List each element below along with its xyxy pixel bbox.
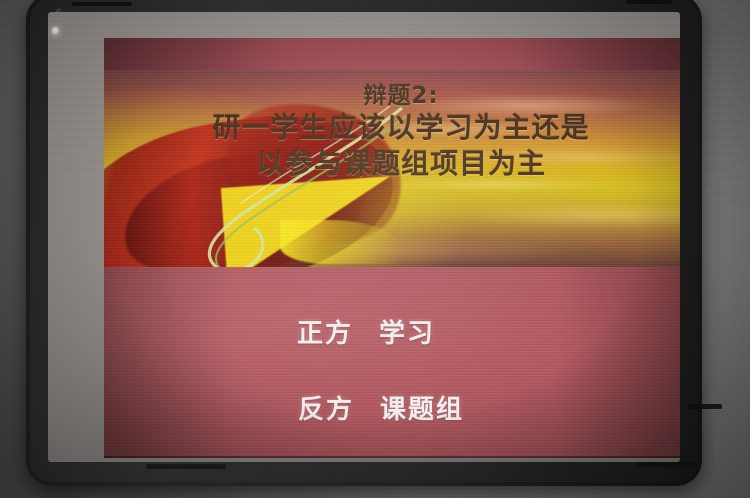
photo-scene: 辩题2: 研一学生应该以学习为主还是 以参与课题组项目为主 正方 学习 反方 课… [0, 0, 750, 498]
slide-lower-panel: 正方 学习 反方 课题组 [104, 267, 680, 458]
pro-position-label: 学习 [379, 319, 435, 349]
slide-title-line-1: 辩题2: [104, 84, 680, 109]
frame-notch-bottom-left [146, 464, 226, 469]
con-position-label: 课题组 [380, 395, 464, 425]
frame-notch-mid-right [688, 404, 722, 409]
debate-row-con: 反方 课题组 [104, 389, 680, 426]
whiteboard-surface: 辩题2: 研一学生应该以学习为主还是 以参与课题组项目为主 正方 学习 反方 课… [48, 12, 680, 462]
slide-title-block: 辩题2: 研一学生应该以学习为主还是 以参与课题组项目为主 [104, 84, 680, 179]
frame-notch-top-right [626, 0, 672, 4]
projected-slide: 辩题2: 研一学生应该以学习为主还是 以参与课题组项目为主 正方 学习 反方 课… [104, 38, 680, 458]
slide-title-line-2: 研一学生应该以学习为主还是 [104, 113, 680, 143]
slide-title-line-3: 以参与课题组项目为主 [104, 149, 680, 179]
frame-notch-top-left [72, 2, 132, 6]
debate-row-pro: 正方 学习 [104, 313, 680, 350]
pro-side-label: 正方 [297, 319, 368, 349]
slide-banner-graphic: 辩题2: 研一学生应该以学习为主还是 以参与课题组项目为主 [104, 70, 680, 267]
con-side-label: 反方 [298, 395, 369, 425]
status-led-icon [52, 27, 59, 35]
frame-notch-bottom-right [636, 462, 696, 467]
projector-scanlines-lower [104, 267, 680, 458]
frame-rail-right [710, 4, 719, 464]
projection-bottom-edge [104, 456, 680, 458]
slide-top-band [104, 38, 680, 70]
